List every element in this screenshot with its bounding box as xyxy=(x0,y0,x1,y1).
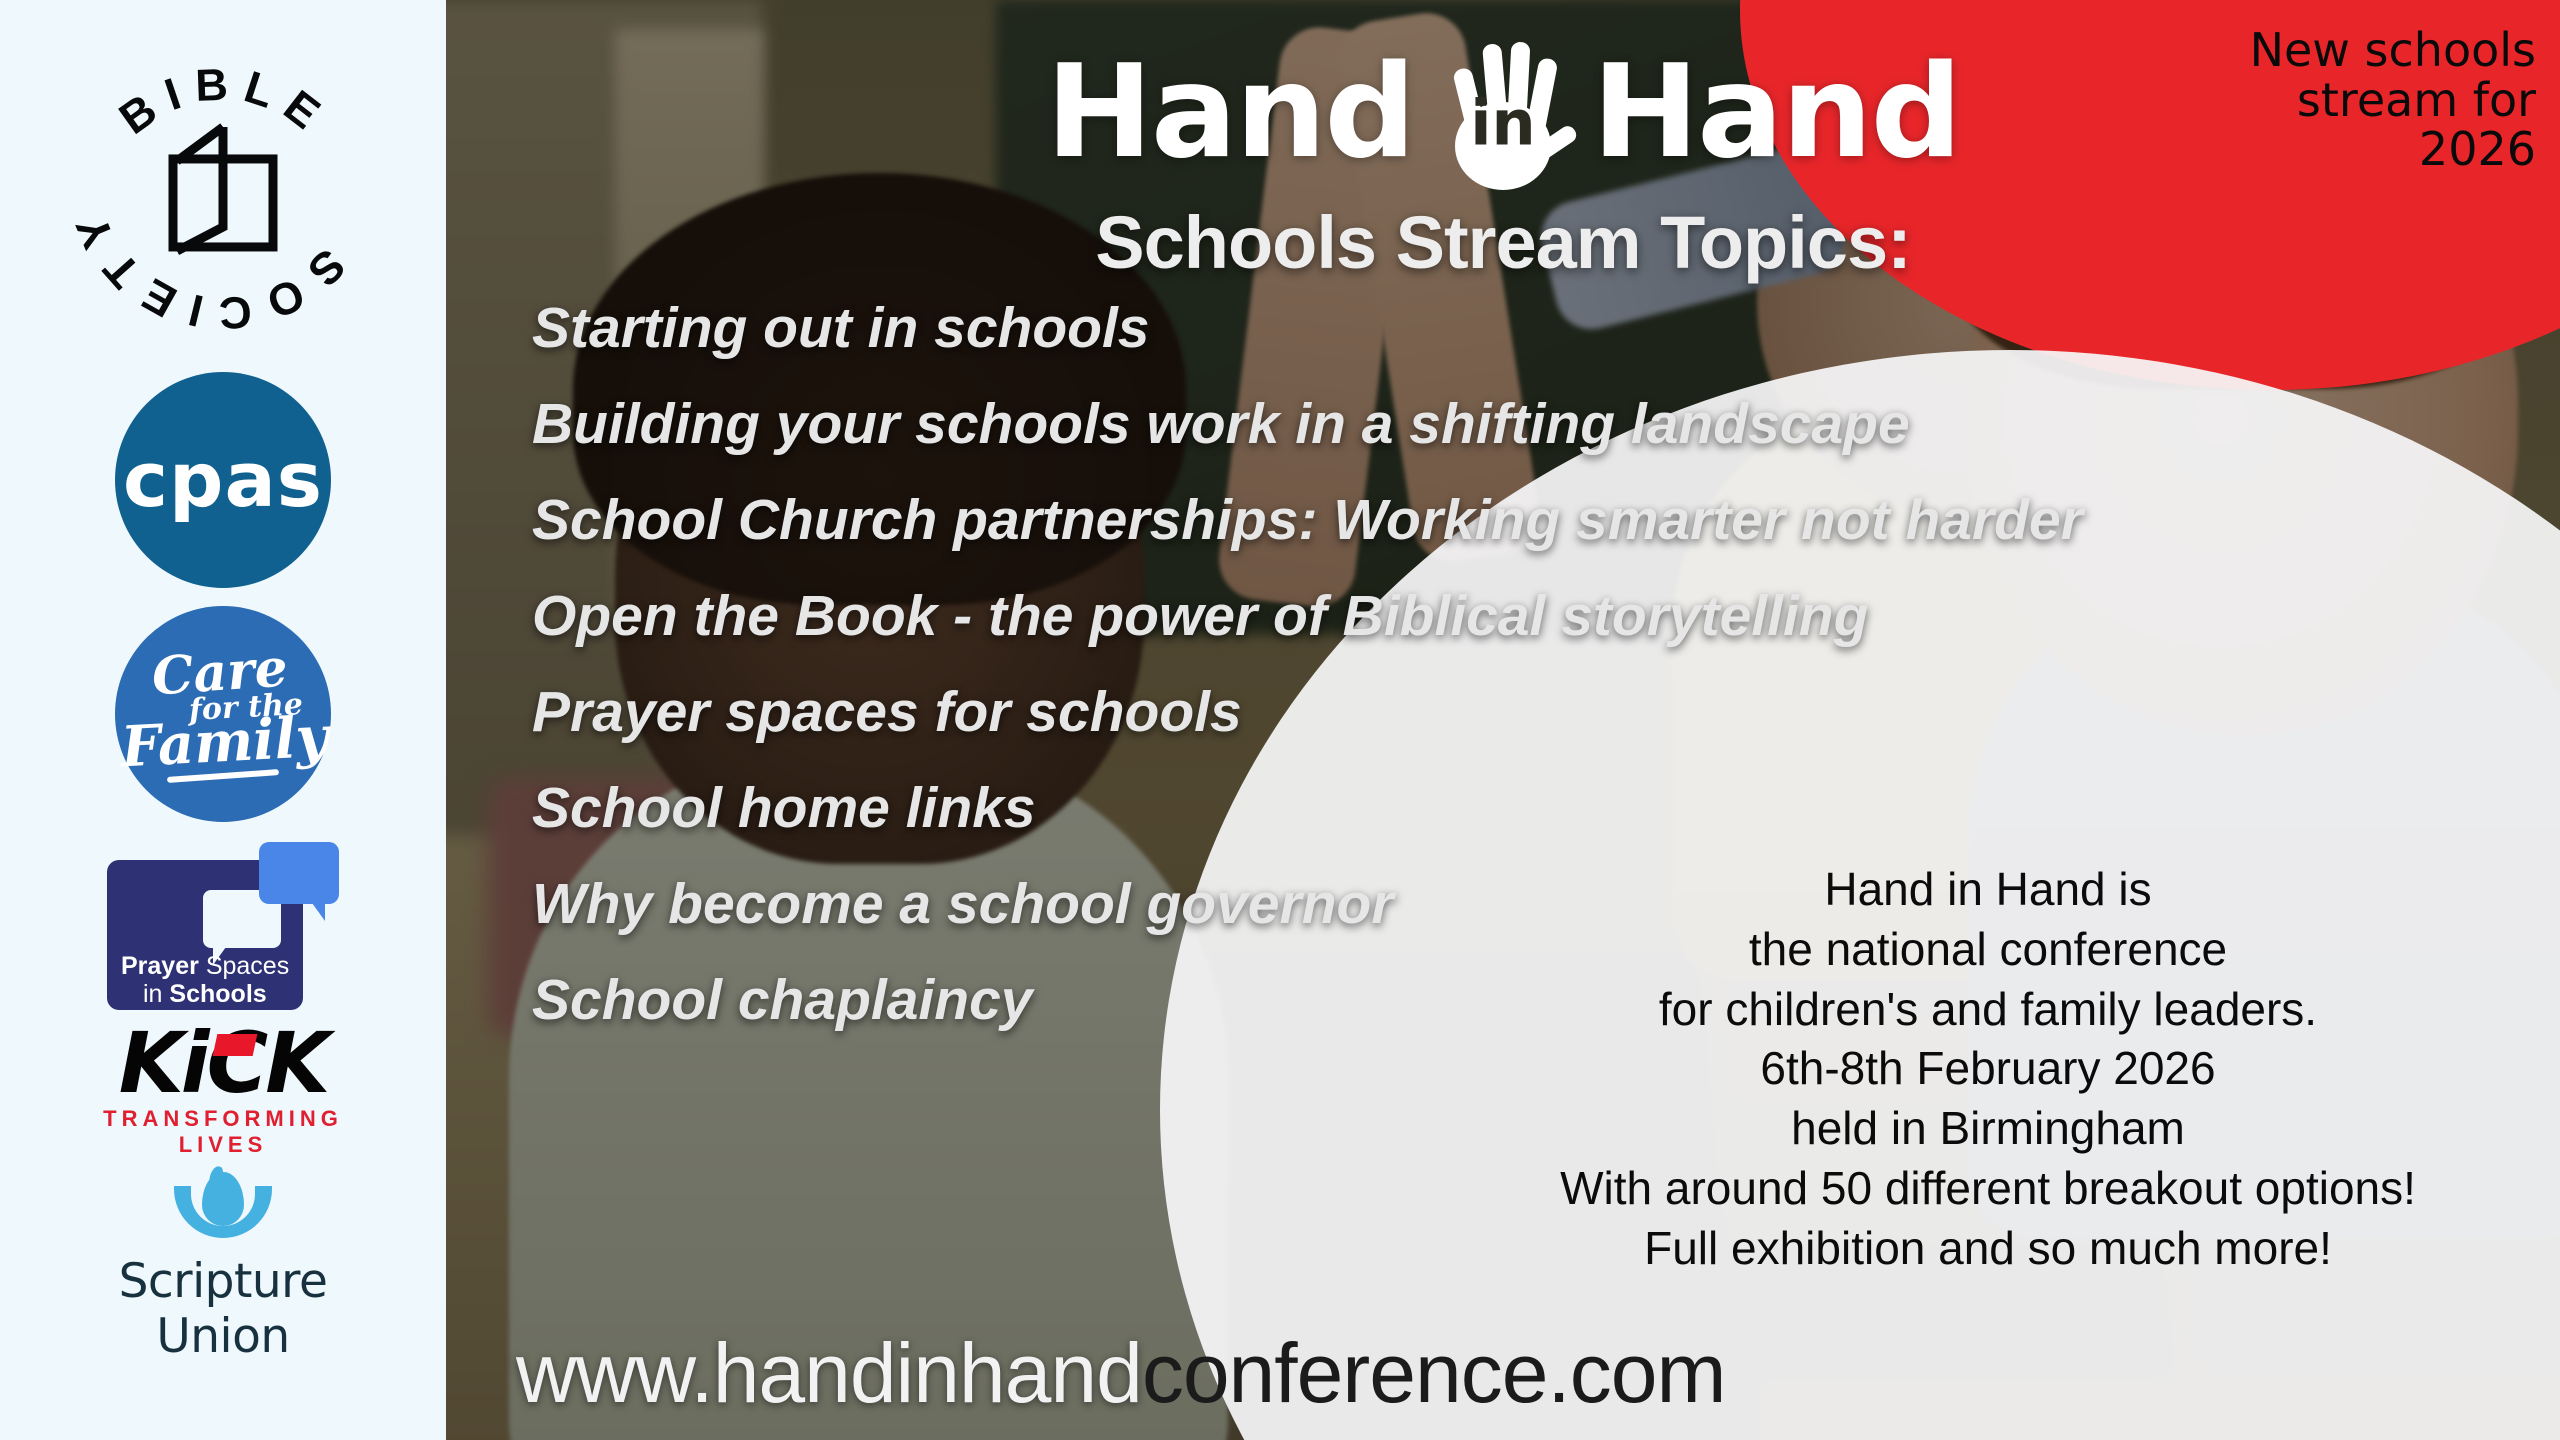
pss-line-2: in Schools xyxy=(143,982,267,1007)
kick-wordmark: KiCK xyxy=(119,1024,328,1104)
page-title: Schools Stream Topics: xyxy=(446,200,2560,285)
scripture-union-logo: Scripture Union xyxy=(73,1172,373,1364)
logo-word-in: in xyxy=(1470,87,1535,160)
flame-shape xyxy=(202,1172,244,1226)
cpas-wordmark: cpas xyxy=(123,442,323,518)
bible-society-logo: BIBLE SOCIETY xyxy=(62,18,384,358)
pss-schools-word: Schools xyxy=(169,980,266,1008)
info-line: held in Birmingham xyxy=(1488,1099,2488,1159)
pss-spaces-word: Spaces xyxy=(206,952,289,980)
care-for-the-family-logo: Care for the Family xyxy=(115,606,331,822)
list-item: School home links xyxy=(532,780,2092,837)
prayer-spaces-in-schools-logo: Prayer Spaces in Schools xyxy=(107,842,339,1010)
pss-in-word: in xyxy=(143,980,162,1008)
poster-root: BIBLE SOCIETY cpas Care for the Family xyxy=(0,0,2560,1440)
flame-in-cup-icon xyxy=(174,1172,272,1250)
open-book-icon xyxy=(159,117,287,265)
logo-word-hand-2: Hand xyxy=(1592,49,1960,177)
list-item: Prayer spaces for schools xyxy=(532,684,2092,741)
info-line: for children's and family leaders. xyxy=(1488,980,2488,1040)
info-line: Full exhibition and so much more! xyxy=(1488,1219,2488,1279)
kick-wordmark-text: KiCK xyxy=(119,1014,328,1112)
cpas-logo: cpas xyxy=(115,372,331,588)
scripture-union-wordmark: Scripture Union xyxy=(73,1254,373,1364)
list-item: Open the Book - the power of Biblical st… xyxy=(532,588,2092,645)
pss-prayer-word: Prayer xyxy=(121,952,199,980)
url-part-light: www.handinhand xyxy=(516,1326,1142,1420)
main-stage: New schools stream for 2026 Hand xyxy=(446,0,2560,1440)
kick-red-accent-icon xyxy=(212,1034,257,1056)
website-url[interactable]: www.handinhandconference.com xyxy=(516,1325,2506,1422)
list-item: School Church partnerships: Working smar… xyxy=(532,492,2092,549)
conference-info-panel: Hand in Hand is the national conference … xyxy=(1488,860,2488,1279)
hand-in-hand-row: Hand in xyxy=(1046,28,1961,198)
url-part-dark: conference.com xyxy=(1142,1326,1726,1420)
kick-logo: KiCK TRANSFORMING LIVES xyxy=(73,1024,373,1158)
hand-in-hand-logo: Hand in xyxy=(446,28,2560,198)
handprint-icon: in xyxy=(1408,28,1598,198)
content-layer: Hand in xyxy=(446,0,2560,1440)
kick-tagline: TRANSFORMING LIVES xyxy=(73,1106,373,1158)
pss-line-1: Prayer Spaces xyxy=(121,954,289,979)
speech-bubble-blue-icon xyxy=(259,842,339,904)
info-line: the national conference xyxy=(1488,920,2488,980)
partner-logo-sidebar: BIBLE SOCIETY cpas Care for the Family xyxy=(0,0,446,1440)
list-item: Building your schools work in a shifting… xyxy=(532,396,2092,453)
info-line: With around 50 different breakout option… xyxy=(1488,1159,2488,1219)
info-line: Hand in Hand is xyxy=(1488,860,2488,920)
info-line: 6th-8th February 2026 xyxy=(1488,1039,2488,1099)
logo-word-hand-1: Hand xyxy=(1046,49,1414,177)
list-item: Starting out in schools xyxy=(532,300,2092,357)
cftf-line-3: Family xyxy=(120,712,330,774)
